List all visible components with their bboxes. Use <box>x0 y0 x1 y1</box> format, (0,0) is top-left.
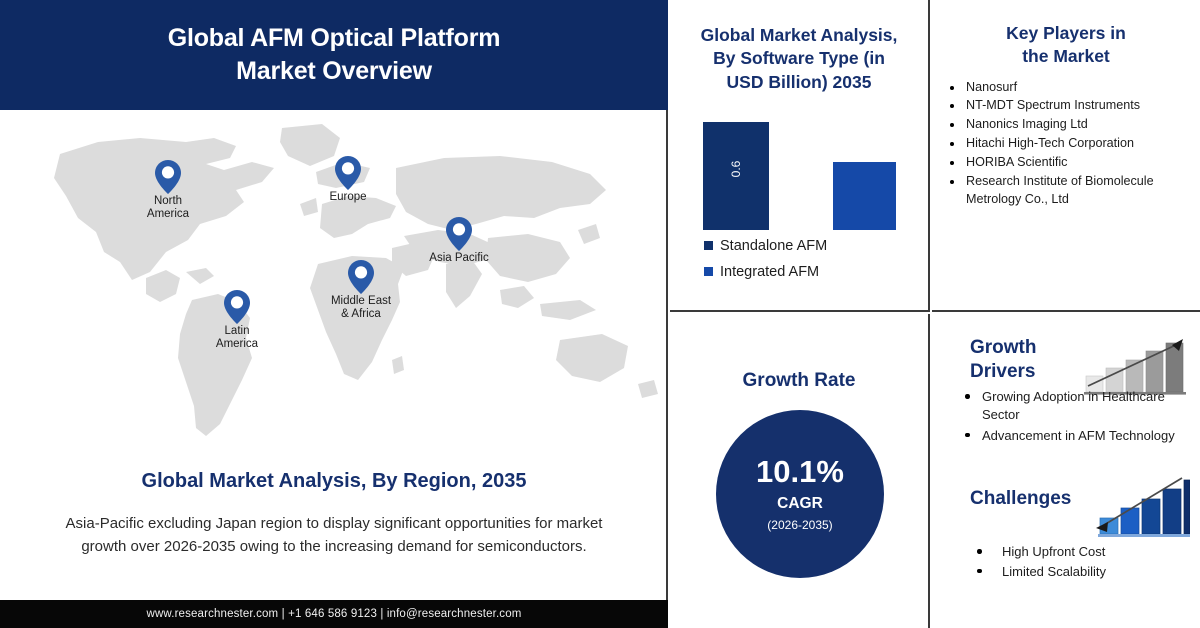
indonesia-land <box>540 300 596 320</box>
map-landmasses <box>54 124 658 436</box>
cagr-metric-label: CAGR <box>777 495 823 513</box>
world-map: North America Europe Asia Pacific <box>0 112 668 462</box>
legend-swatch-icon <box>704 267 713 276</box>
legend-label: Integrated AFM <box>720 264 819 280</box>
key-players-title-line-1: Key Players in <box>946 22 1186 45</box>
challenges-title: Challenges <box>970 488 1071 510</box>
central-america-land <box>146 270 180 302</box>
russia-land <box>396 156 606 230</box>
software-panel-title-line-3: USD Billion) 2035 <box>684 71 914 94</box>
growth-drivers-list: Growing Adoption in Healthcare Sector Ad… <box>960 388 1188 448</box>
southeast-asia-land <box>500 286 534 308</box>
key-players-list: Nanosurf NT-MDT Spectrum Instruments Nan… <box>932 79 1200 209</box>
ascending-blue-bars-icon <box>1078 472 1190 540</box>
scandinavia-land <box>316 162 370 188</box>
challenges-trend-down-icon <box>1078 472 1190 545</box>
chart-legend: Standalone AFM Integrated AFM <box>670 238 928 280</box>
page-title-line-2: Market Overview <box>168 55 501 88</box>
bar-integrated-afm <box>833 162 896 230</box>
list-item: Hitachi High-Tech Corporation <box>946 135 1192 153</box>
north-america-land <box>54 138 274 280</box>
new-zealand-land <box>638 380 658 398</box>
footer-bar: www.researchnester.com | +1 646 586 9123… <box>0 600 668 628</box>
india-land <box>446 260 482 308</box>
cagr-period: (2026-2035) <box>767 518 832 532</box>
region-caption: Global Market Analysis, By Region, 2035 <box>0 470 668 493</box>
growth-rate-panel: Growth Rate 10.1% CAGR (2026-2035) <box>670 314 930 628</box>
list-item: Growing Adoption in Healthcare Sector <box>960 388 1188 424</box>
software-type-bar-chart: 0.6 <box>670 112 930 230</box>
list-item: Nanosurf <box>946 79 1192 97</box>
footer-contact-text: www.researchnester.com | +1 646 586 9123… <box>147 608 522 620</box>
key-players-title-line-2: the Market <box>946 45 1186 68</box>
africa-land <box>310 256 404 380</box>
page-title-line-1: Global AFM Optical Platform <box>168 22 501 55</box>
header-title-bar: Global AFM Optical Platform Market Overv… <box>0 0 668 110</box>
drivers-challenges-panel: Growth Drivers Growing Adoption in Healt… <box>932 314 1200 628</box>
south-america-land <box>178 294 252 436</box>
legend-item-integrated-afm: Integrated AFM <box>704 264 928 280</box>
growth-drivers-title-line-2: Drivers <box>970 360 1037 384</box>
key-players-title: Key Players in the Market <box>932 0 1200 69</box>
legend-swatch-icon <box>704 241 713 250</box>
list-item: HORIBA Scientific <box>946 154 1192 172</box>
growth-drivers-title-line-1: Growth <box>970 336 1037 360</box>
growth-rate-title: Growth Rate <box>670 314 928 393</box>
list-item: Nanonics Imaging Ltd <box>946 116 1192 134</box>
left-panel: Global AFM Optical Platform Market Overv… <box>0 0 668 628</box>
bar-value-standalone-afm: 0.6 <box>729 161 743 178</box>
british-isles-land <box>300 198 318 216</box>
challenges-list: High Upfront Cost Limited Scalability <box>972 542 1188 581</box>
page-title: Global AFM Optical Platform Market Overv… <box>168 22 501 88</box>
growth-drivers-title: Growth Drivers <box>970 336 1037 384</box>
legend-label: Standalone AFM <box>720 238 827 254</box>
world-map-svg <box>0 112 668 462</box>
japan-land <box>578 224 600 244</box>
software-panel-title: Global Market Analysis, By Software Type… <box>670 0 928 94</box>
caribbean-land <box>186 268 214 284</box>
east-asia-land <box>486 234 570 282</box>
software-panel-title-line-2: By Software Type (in <box>684 47 914 70</box>
list-item: High Upfront Cost <box>972 542 1188 562</box>
australia-land <box>556 334 628 382</box>
list-item: Limited Scalability <box>972 562 1188 582</box>
list-item: NT-MDT Spectrum Instruments <box>946 97 1192 115</box>
greenland-land <box>280 124 340 166</box>
cagr-circle: 10.1% CAGR (2026-2035) <box>716 410 884 578</box>
bar-standalone-afm: 0.6 <box>703 122 769 230</box>
software-panel-title-line-1: Global Market Analysis, <box>684 24 914 47</box>
infographic-root: Global AFM Optical Platform Market Overv… <box>0 0 1200 628</box>
list-item: Research Institute of Biomolecule Metrol… <box>946 173 1192 209</box>
list-item: Advancement in AFM Technology <box>960 427 1188 445</box>
europe-land <box>320 196 396 238</box>
cagr-value: 10.1% <box>756 456 844 487</box>
software-type-panel: Global Market Analysis, By Software Type… <box>670 0 930 312</box>
region-description: Asia-Pacific excluding Japan region to d… <box>54 512 614 559</box>
madagascar-land <box>392 356 404 374</box>
legend-item-standalone-afm: Standalone AFM <box>704 238 928 254</box>
key-players-panel: Key Players in the Market Nanosurf NT-MD… <box>932 0 1200 312</box>
